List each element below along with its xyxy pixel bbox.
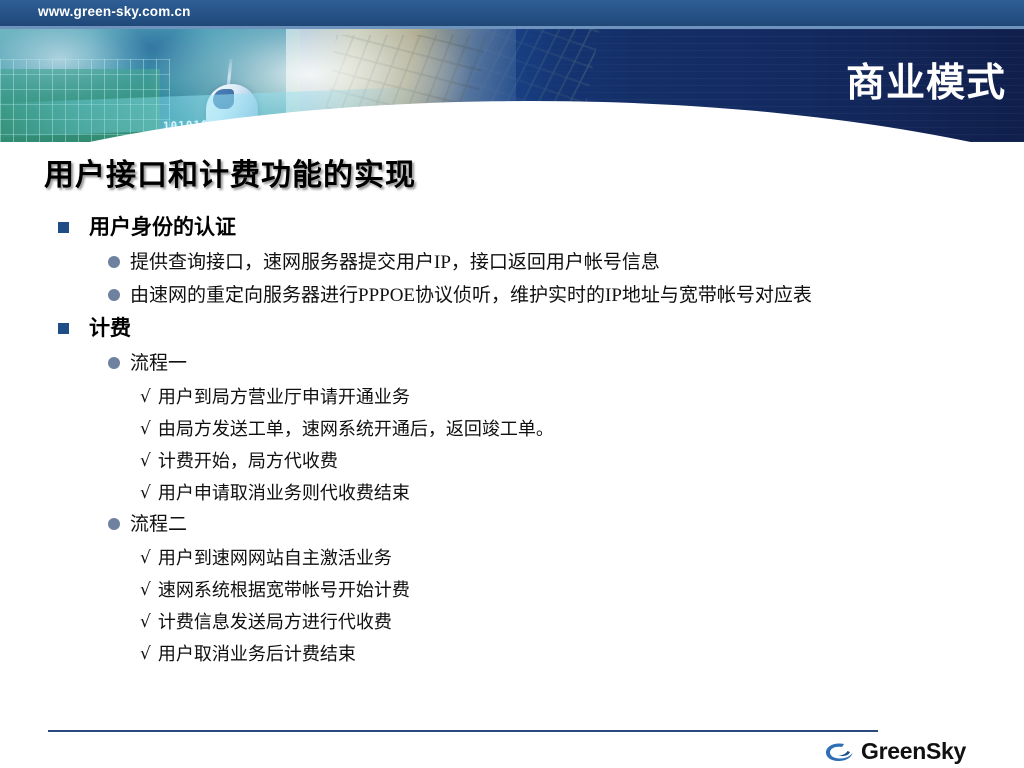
section-heading: 用户身份的认证	[0, 212, 1024, 243]
list-item: 流程一	[0, 348, 1024, 379]
sub-list-item: √用户到局方营业厅申请开通业务	[0, 381, 1024, 413]
slide-body: 用户身份的认证提供查询接口，速网服务器提交用户IP，接口返回用户帐号信息由速网的…	[0, 212, 1024, 670]
sub-list-item-label: 用户到速网网站自主激活业务	[158, 542, 392, 574]
slide-title: 商业模式	[846, 52, 1006, 108]
top-url-bar: www.green-sky.com.cn	[0, 0, 1024, 26]
list-item: 由速网的重定向服务器进行PPPOE协议侦听，维护实时的IP地址与宽带帐号对应表	[0, 280, 1024, 311]
greensky-logo-text: GreenSky	[861, 738, 966, 765]
sub-list-item-label: 用户申请取消业务则代收费结束	[158, 477, 410, 509]
checkmark-icon: √	[140, 445, 151, 477]
square-bullet-icon	[58, 323, 69, 334]
list-item-label: 流程二	[130, 509, 187, 540]
list-item-label: 流程一	[130, 348, 187, 379]
checkmark-icon: √	[140, 542, 151, 574]
sub-list-item: √速网系统根据宽带帐号开始计费	[0, 574, 1024, 606]
list-item-label: 由速网的重定向服务器进行PPPOE协议侦听，维护实时的IP地址与宽带帐号对应表	[130, 280, 812, 311]
checkmark-icon: √	[140, 477, 151, 509]
sub-list-item: √用户到速网网站自主激活业务	[0, 542, 1024, 574]
sub-list-item-label: 计费信息发送局方进行代收费	[158, 606, 392, 638]
sub-list-item-label: 由局方发送工单，速网系统开通后，返回竣工单。	[158, 413, 554, 445]
checkmark-icon: √	[140, 381, 151, 413]
round-bullet-icon	[108, 518, 120, 530]
checkmark-icon: √	[140, 606, 151, 638]
list-item: 流程二	[0, 509, 1024, 540]
round-bullet-icon	[108, 256, 120, 268]
list-item: 提供查询接口，速网服务器提交用户IP，接口返回用户帐号信息	[0, 247, 1024, 278]
section-heading: 计费	[0, 313, 1024, 344]
sub-list-item: √计费开始，局方代收费	[0, 445, 1024, 477]
sub-list-item-label: 用户到局方营业厅申请开通业务	[158, 381, 410, 413]
round-bullet-icon	[108, 289, 120, 301]
footer-divider	[48, 730, 878, 732]
sub-list-item: √用户取消业务后计费结束	[0, 638, 1024, 670]
sub-list-item-label: 速网系统根据宽带帐号开始计费	[158, 574, 410, 606]
sub-list-item-label: 用户取消业务后计费结束	[158, 638, 356, 670]
greensky-logo-icon	[824, 741, 854, 763]
checkmark-icon: √	[140, 638, 151, 670]
square-bullet-icon	[58, 222, 69, 233]
checkmark-icon: √	[140, 413, 151, 445]
sub-list-item: √由局方发送工单，速网系统开通后，返回竣工单。	[0, 413, 1024, 445]
checkmark-icon: √	[140, 574, 151, 606]
round-bullet-icon	[108, 357, 120, 369]
sub-list-item-label: 计费开始，局方代收费	[158, 445, 338, 477]
list-item-label: 提供查询接口，速网服务器提交用户IP，接口返回用户帐号信息	[130, 247, 660, 278]
page-title: 用户接口和计费功能的实现	[44, 150, 416, 194]
sub-list-item: √计费信息发送局方进行代收费	[0, 606, 1024, 638]
section-heading-label: 计费	[89, 313, 131, 344]
greensky-logo: GreenSky	[824, 738, 966, 765]
site-url-label: www.green-sky.com.cn	[38, 4, 191, 19]
sub-list-item: √用户申请取消业务则代收费结束	[0, 477, 1024, 509]
section-heading-label: 用户身份的认证	[89, 212, 236, 243]
